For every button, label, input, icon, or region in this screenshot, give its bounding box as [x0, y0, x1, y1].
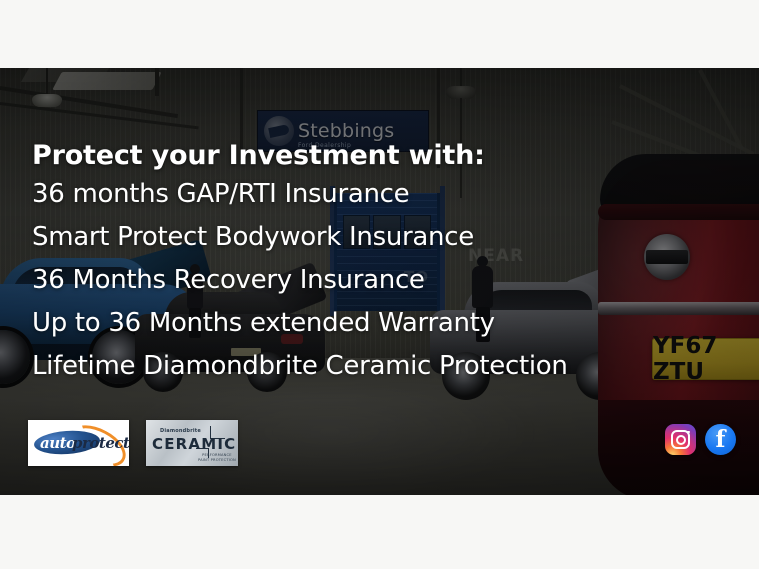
benefit-item-3: 36 Months Recovery Insurance: [32, 259, 732, 302]
stebbings-sign-text: Stebbings: [298, 122, 394, 141]
ceramic-title-text: CERAMIC: [152, 435, 236, 453]
ceiling-post: [155, 68, 159, 96]
instagram-lens-shape: [676, 435, 686, 445]
ceramic-tagline-text: PERFORMANCE PAINT PROTECTION: [198, 453, 236, 463]
skylight-panel: [52, 72, 162, 90]
social-links: f: [665, 424, 736, 455]
benefit-item-1: 36 months GAP/RTI Insurance: [32, 173, 732, 216]
benefit-item-2: Smart Protect Bodywork Insurance: [32, 216, 732, 259]
autoprotect-word-auto: auto: [40, 434, 76, 452]
page-title: Protect your Investment with:: [32, 139, 732, 173]
letterbox-bottom: [0, 495, 759, 569]
instagram-dot-shape: [687, 431, 690, 434]
ceiling-light-left: [32, 94, 62, 107]
benefit-item-5: Lifetime Diamondbrite Ceramic Protection: [32, 345, 732, 388]
ceramic-brand-text: Diamondbrite: [160, 428, 201, 434]
slide-canvas: Stebbings Ford Dealership NEAR TO: [0, 0, 759, 569]
benefit-item-4: Up to 36 Months extended Warranty: [32, 302, 732, 345]
pendant-cord-left: [46, 68, 48, 96]
pendant-cord-right: [460, 68, 462, 88]
diamondbrite-ceramic-logo: Diamondbrite CERAMIC PERFORMANCE PAINT P…: [146, 420, 238, 466]
ceramic-tagline-line1: PERFORMANCE: [202, 453, 232, 457]
instagram-icon[interactable]: [665, 424, 696, 455]
autoprotect-word-protect: protect: [72, 434, 129, 452]
facebook-icon[interactable]: f: [705, 424, 736, 455]
autoprotect-logo: auto protect: [28, 420, 129, 466]
letterbox-top: [0, 0, 759, 68]
facebook-f-glyph: f: [705, 427, 736, 453]
partner-logos: auto protect Diamondbrite CERAMIC PERFOR…: [28, 420, 238, 466]
ceramic-tagline-line2: PAINT PROTECTION: [198, 458, 236, 462]
promo-text-block: Protect your Investment with: 36 months …: [32, 139, 732, 388]
